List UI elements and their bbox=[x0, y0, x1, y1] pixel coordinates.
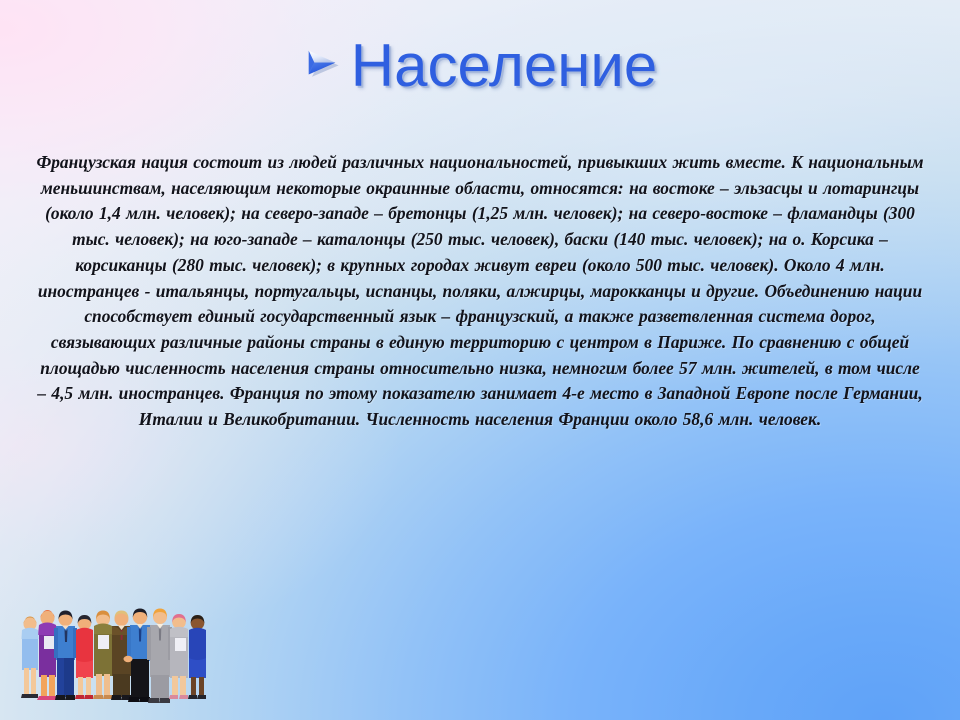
group-of-people-illustration bbox=[8, 578, 218, 708]
arrowhead-bullet-icon bbox=[303, 44, 341, 82]
slide-population: Население Французская нация состоит из л… bbox=[0, 0, 960, 720]
body-paragraph: Французская нация состоит из людей разли… bbox=[36, 150, 924, 433]
slide-title-row: Население bbox=[0, 36, 960, 96]
page-title: Население bbox=[351, 36, 657, 96]
